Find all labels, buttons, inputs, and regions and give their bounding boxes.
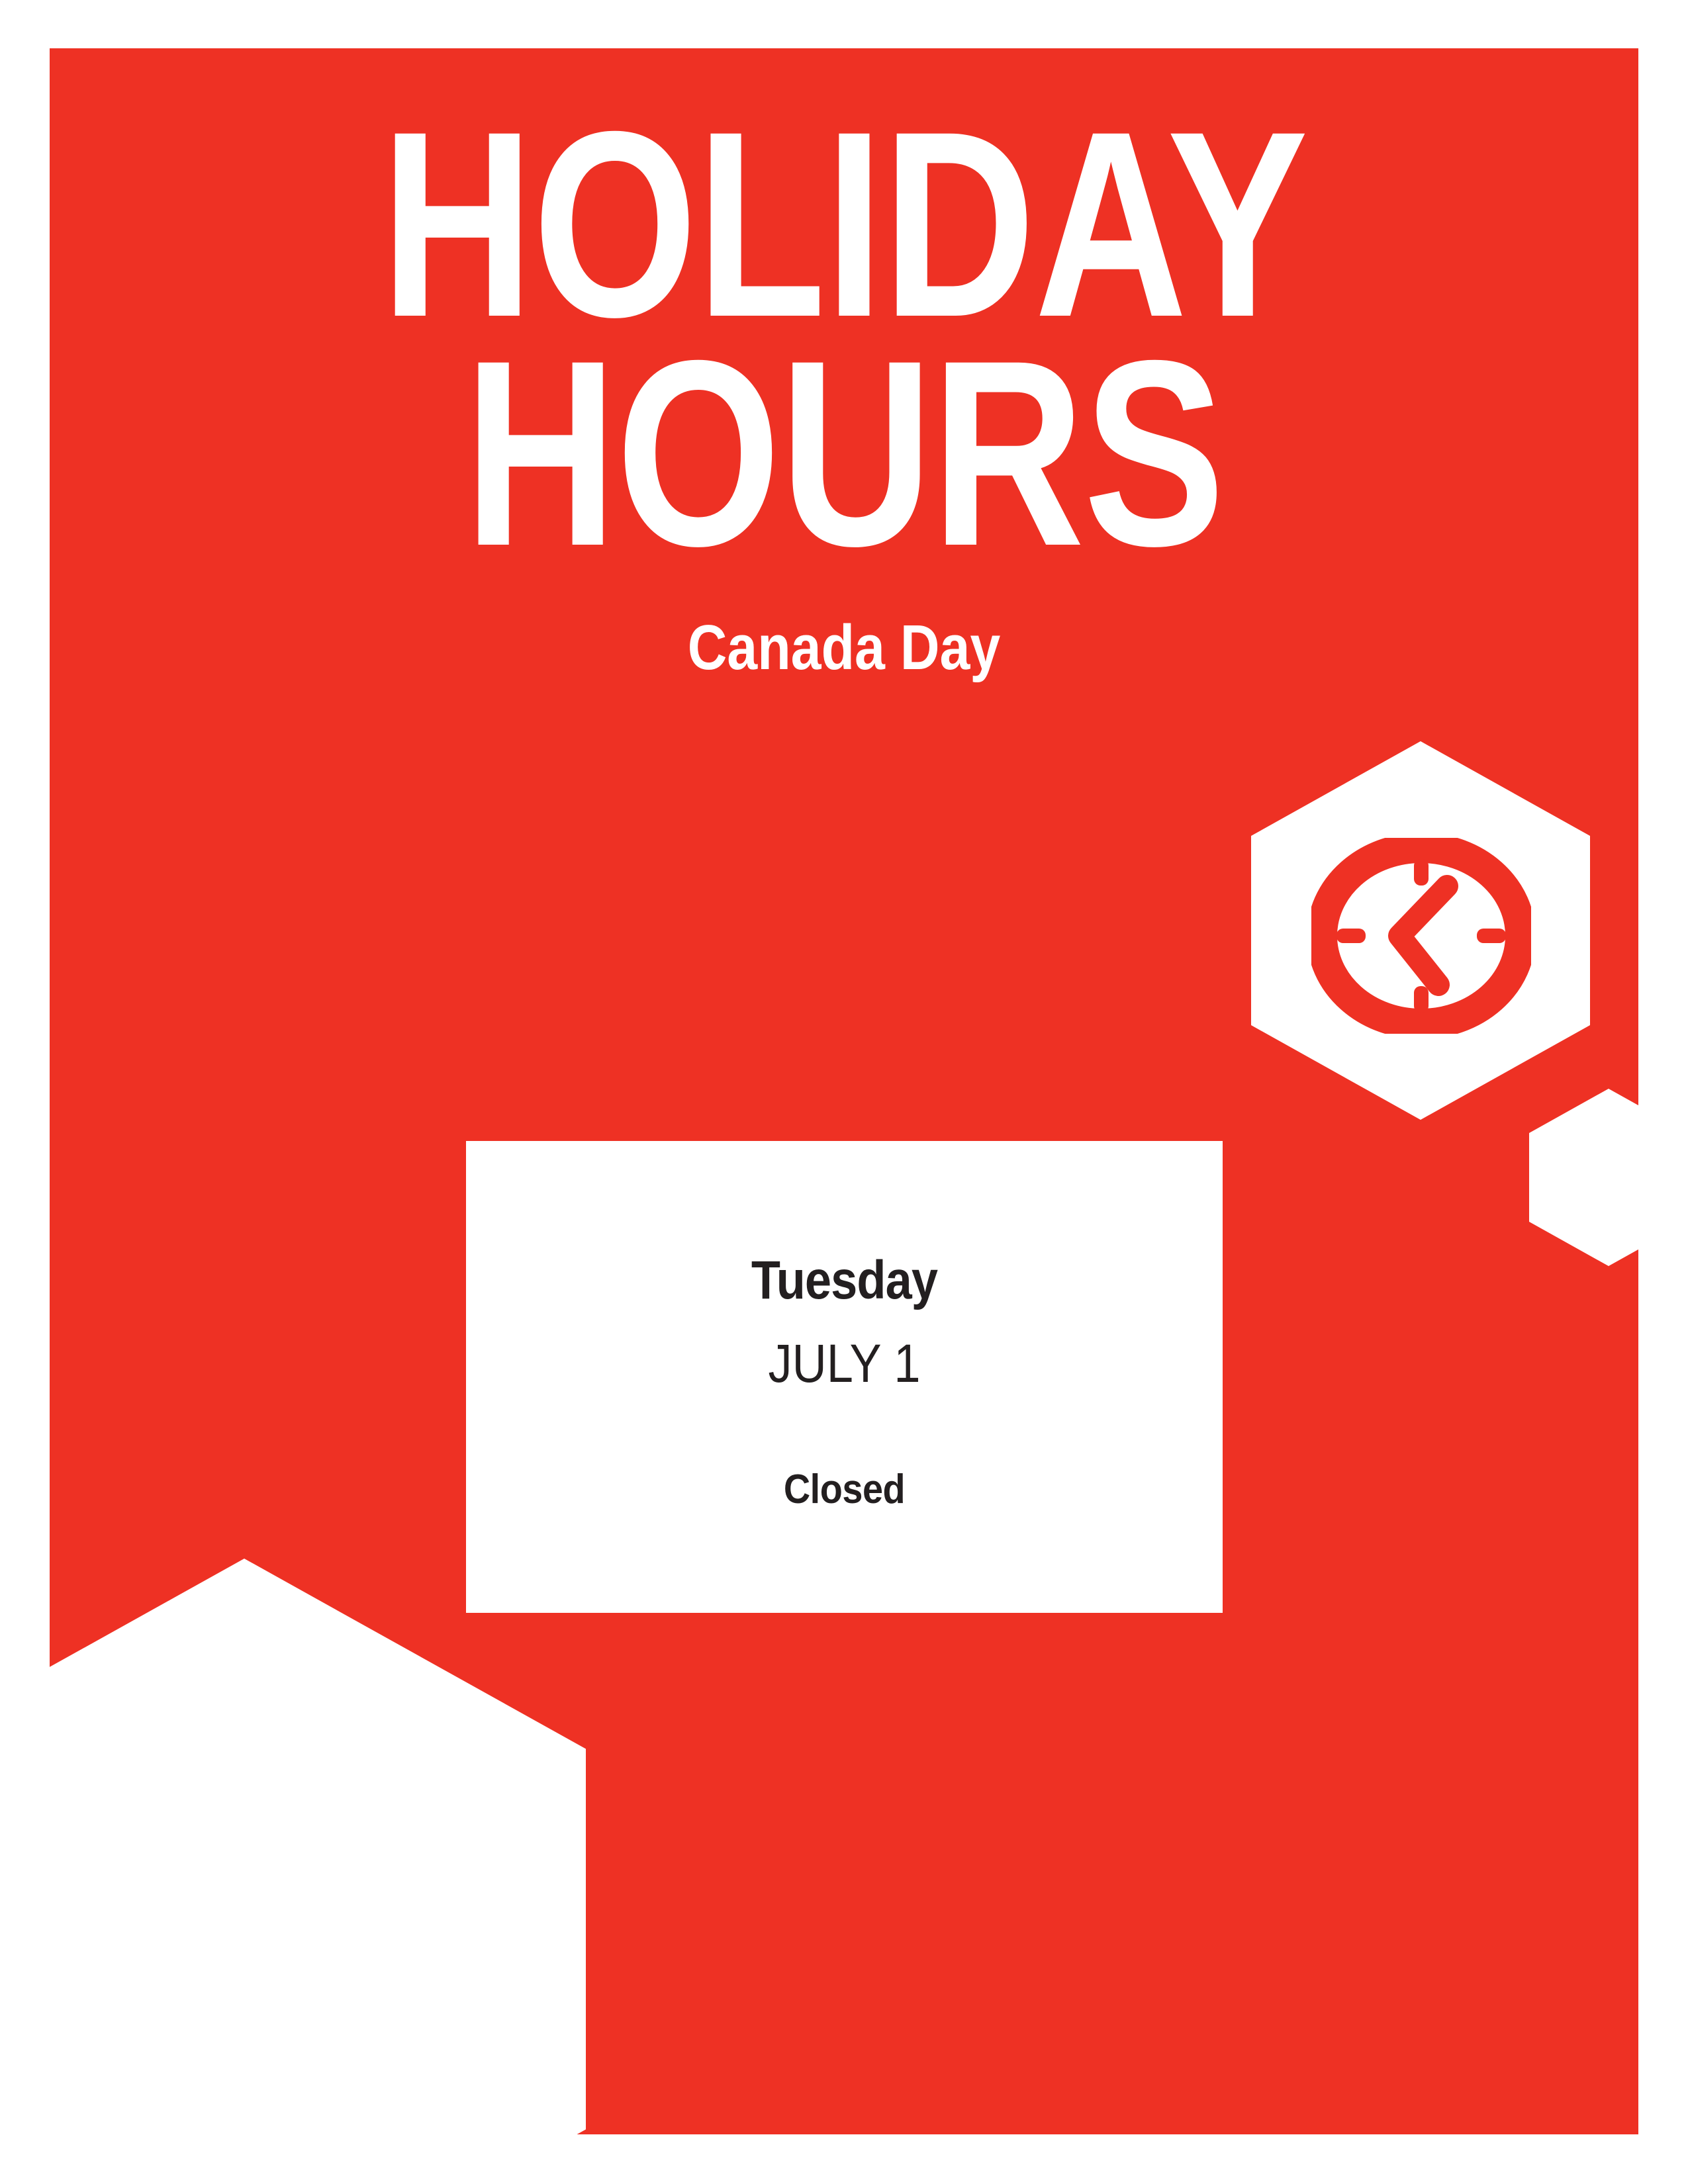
hexagon-accent <box>1529 1089 1638 1266</box>
clock-icon <box>1311 838 1531 1034</box>
date-label: JULY 1 <box>512 1337 1178 1391</box>
status-label: Closed <box>504 1469 1185 1510</box>
holiday-info-card: Tuesday JULY 1 Closed <box>466 1141 1223 1613</box>
holiday-hours-poster: HOLIDAY HOURS Canada Day Tuesday JULY 1 … <box>0 0 1688 2184</box>
page-title-line-2: HOURS <box>209 337 1479 570</box>
page-title-line-1: HOLIDAY <box>209 108 1479 341</box>
subtitle: Canada Day <box>161 616 1527 680</box>
hexagon-accent-large <box>50 1559 586 2134</box>
weekday-label: Tuesday <box>512 1253 1178 1308</box>
headline-block: HOLIDAY HOURS Canada Day <box>50 48 1638 680</box>
poster-background: HOLIDAY HOURS Canada Day Tuesday JULY 1 … <box>50 48 1638 2134</box>
